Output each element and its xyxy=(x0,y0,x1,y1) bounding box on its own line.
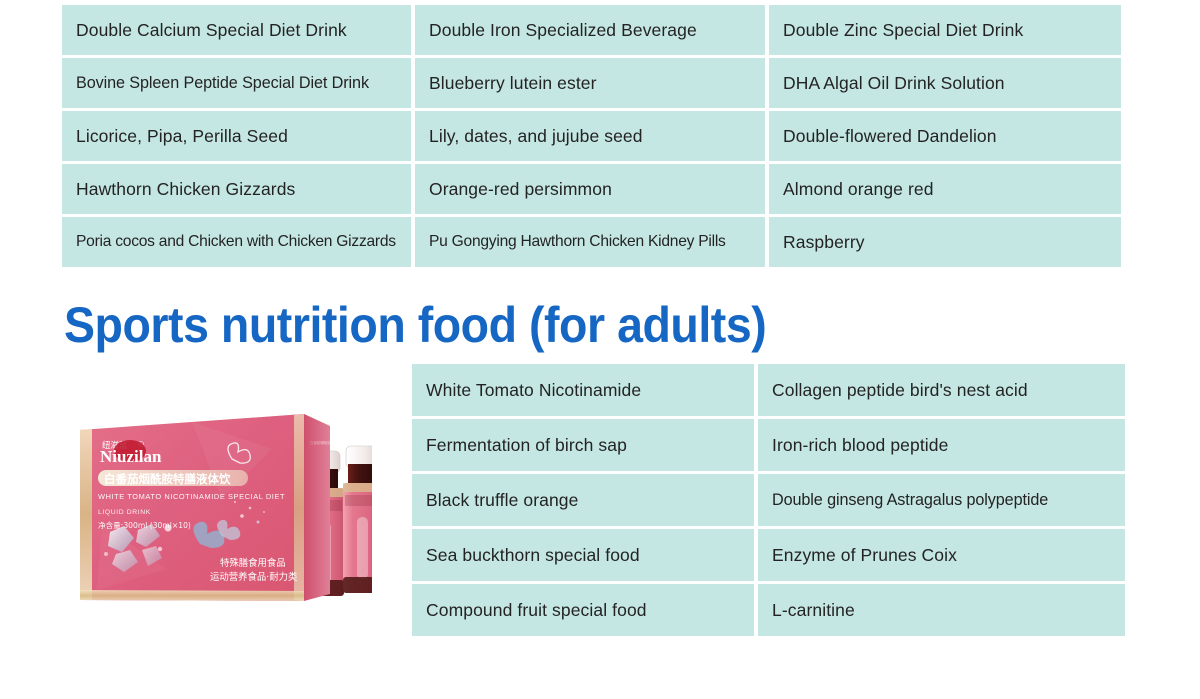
table-cell: Bovine Spleen Peptide Special Diet Drink xyxy=(62,58,411,108)
table-cell: Double Zinc Special Diet Drink xyxy=(769,5,1121,55)
table-cell: Pu Gongying Hawthorn Chicken Kidney Pill… xyxy=(415,217,765,267)
table-cell: Double Iron Specialized Beverage xyxy=(415,5,765,55)
white-tomato-nicotinamide-product-box: 纽滋蓝 R Niuzilan 白番茄烟酰胺特膳液体饮 WHITE TOMATO … xyxy=(72,404,372,626)
product-footer-line1: 特殊膳食用食品 xyxy=(220,557,286,569)
table-cell: Licorice, Pipa, Perilla Seed xyxy=(62,111,411,161)
table-cell: Orange-red persimmon xyxy=(415,164,765,214)
table-cell: Double Calcium Special Diet Drink xyxy=(62,5,411,55)
table-cell: Almond orange red xyxy=(769,164,1121,214)
product-subtitle-en: LIQUID DRINK xyxy=(98,509,151,516)
page-title: Sports nutrition food (for adults) xyxy=(64,296,766,354)
table-cell: Sea buckthorn special food xyxy=(412,529,754,581)
product-title-cn: 白番茄烟酰胺特膳液体饮 xyxy=(104,472,231,486)
table-cell: Iron-rich blood peptide xyxy=(758,419,1125,471)
table-cell: Blueberry lutein ester xyxy=(415,58,765,108)
sports-nutrition-products-table: White Tomato Nicotinamide Collagen pepti… xyxy=(412,364,1125,636)
table-cell: Black truffle orange xyxy=(412,474,754,526)
brand-en-text: Niuzilan xyxy=(100,447,162,466)
table-cell: Raspberry xyxy=(769,217,1121,267)
table-cell: Collagen peptide bird's nest acid xyxy=(758,364,1125,416)
table-cell: Double ginseng Astragalus polypeptide xyxy=(758,474,1125,526)
table-cell: Poria cocos and Chicken with Chicken Giz… xyxy=(62,217,411,267)
svg-text:净含量:300ml: 净含量:300ml xyxy=(321,440,343,445)
table-cell: Hawthorn Chicken Gizzards xyxy=(62,164,411,214)
table-cell: Enzyme of Prunes Coix xyxy=(758,529,1125,581)
product-title-en: WHITE TOMATO NICOTINAMIDE SPECIAL DIET xyxy=(98,492,285,501)
special-diet-products-table: Double Calcium Special Diet Drink Double… xyxy=(62,5,1125,267)
table-cell: Double-flowered Dandelion xyxy=(769,111,1121,161)
table-cell: Fermentation of birch sap xyxy=(412,419,754,471)
product-footer-line2: 运动营养食品·耐力类 xyxy=(210,571,298,583)
table-cell: Lily, dates, and jujube seed xyxy=(415,111,765,161)
product-bottle-front xyxy=(343,446,372,593)
table-cell: Compound fruit special food xyxy=(412,584,754,636)
table-cell: DHA Algal Oil Drink Solution xyxy=(769,58,1121,108)
table-cell: White Tomato Nicotinamide xyxy=(412,364,754,416)
table-cell: L-carnitine xyxy=(758,584,1125,636)
